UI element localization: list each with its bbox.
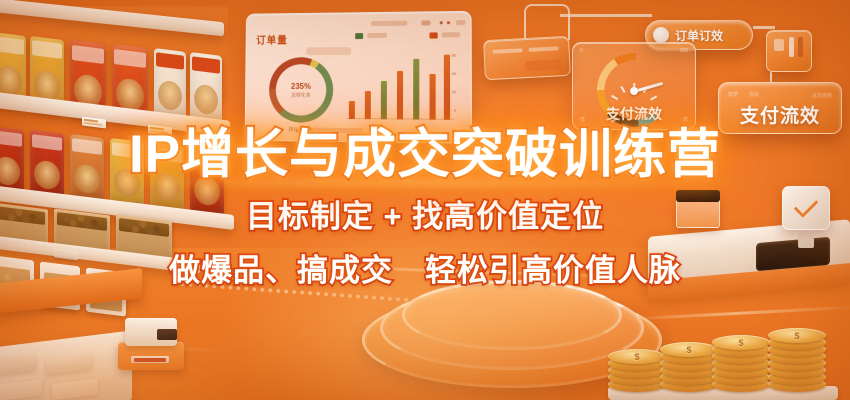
module-slider[interactable] [798,37,803,57]
donut-sublabel: 总转化率 [291,91,311,98]
control-module[interactable] [766,30,812,72]
header-dot [440,21,443,24]
box-item [0,379,42,400]
bar-item [430,74,436,120]
bar-item [444,55,450,120]
printer-device[interactable] [118,310,184,370]
box-item [0,354,36,376]
bar-item [381,81,387,119]
bar-item [349,101,355,119]
hanging-tag[interactable] [483,36,571,80]
tag-line [493,48,523,54]
product-pack [154,48,186,122]
bar-item [413,59,419,120]
legend-label-b [442,32,461,37]
pack-label [114,49,146,68]
pack-label [0,36,24,54]
pack-label [156,52,184,69]
product-pack [190,52,222,126]
pill-knob-icon [653,27,669,43]
bar-item [397,71,403,120]
header-dot [447,21,450,24]
pack-label [192,56,220,73]
dashboard-title: 订单量 [256,32,288,47]
dashboard-header [247,12,471,34]
pack-label [32,41,62,59]
pack-label [72,45,104,64]
bar-item [365,91,371,119]
legend-swatch-a [355,33,363,39]
title-block: IP增长与成交突破训练营 目标制定 + 找高价值定位 做爆品、搞成交 轻松引高价… [0,128,850,290]
box-item [52,379,98,400]
printer-slot [131,356,169,363]
pill-connector [560,14,652,36]
podium-ring-light [402,280,622,350]
pill-label: 订单订效 [675,27,723,44]
back-icon[interactable] [421,20,430,25]
donut-value: 235% [291,81,311,90]
legend-swatch-b [430,32,438,38]
module-slider[interactable] [789,37,794,57]
payment-gauge-card[interactable]: 0 100 低 高 支付流效 [572,42,696,130]
printer-screen [157,329,177,340]
coin-top-face [712,335,770,350]
filter-chip[interactable] [306,47,351,55]
bar-chart: 60 40 20 0 [347,51,454,131]
price-tag [82,117,106,129]
gauge-hub [630,87,638,95]
analytics-dashboard[interactable]: 订单量 235% 总转化率 转化率分布 60 40 20 0 [245,11,472,144]
box-item [46,353,92,375]
module-switch[interactable] [774,39,784,51]
coin-top-face [768,328,826,343]
coin-stacks [608,296,844,392]
coin-top-face [660,342,718,357]
gauge-card-label: 支付流效 [573,104,695,124]
payment-flow-card[interactable]: 数据 指标 总览面板 支付流效 [718,82,842,134]
banner-canvas: 订单量 235% 总转化率 转化率分布 60 40 20 0 [0,0,850,400]
tag-line [528,46,558,52]
header-placeholder [371,21,407,26]
main-title-text: IP增长与成交突破训练营 [129,125,721,184]
legend-label-a [367,33,387,38]
tag-code [525,59,561,71]
subtitle-line-2: 做爆品、搞成交 轻松引高价值人脉 [0,245,850,290]
coin-top-face [608,349,666,364]
page-title: IP增长与成交突破训练营 [0,128,850,181]
subtitle-line-1: 目标制定 + 找高价值定位 [0,191,850,236]
menu-icon[interactable] [456,20,465,25]
donut-center-readout: 235% 总转化率 [269,57,334,123]
payment-card-label: 支付流效 [719,101,841,128]
